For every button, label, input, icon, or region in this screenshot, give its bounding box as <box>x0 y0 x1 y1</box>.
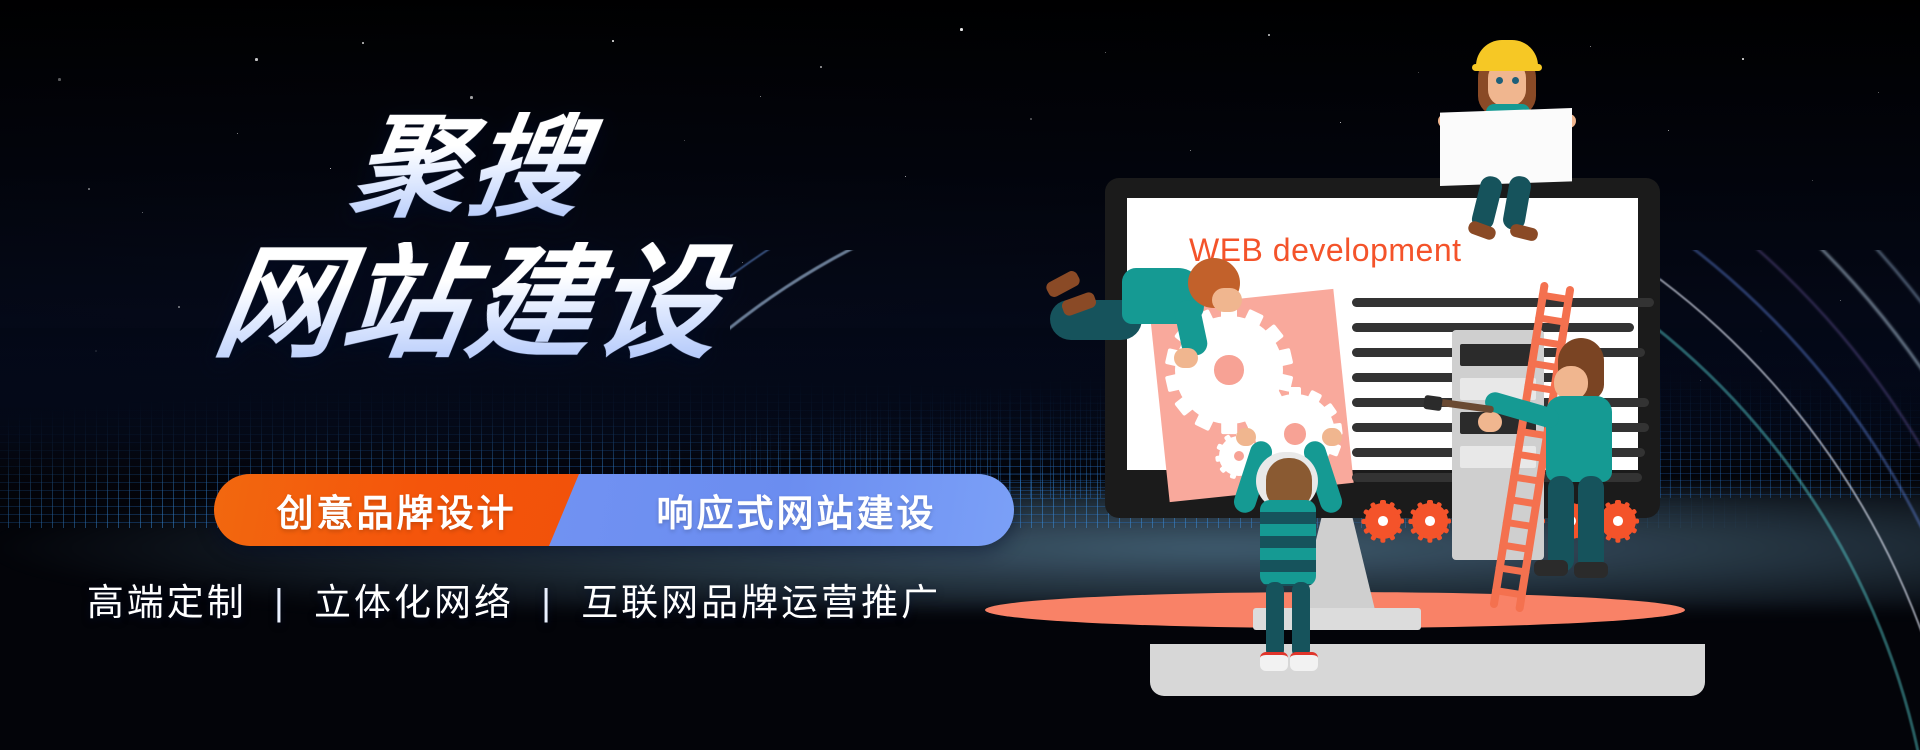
gear-tooth <box>1394 508 1403 516</box>
painter-face <box>1554 366 1588 400</box>
lifter-striped-shirt <box>1260 500 1316 586</box>
tagline-separator-1: | <box>274 582 287 624</box>
tagline-item-2: 立体化网络 <box>314 582 514 623</box>
gear-tooth <box>1410 526 1419 534</box>
service-badge[interactable]: 创意品牌设计 响应式网站建设 <box>214 474 1014 546</box>
engineer-eye-left <box>1496 77 1503 84</box>
painter-leg-right <box>1578 476 1604 572</box>
lifter-leg-left <box>1266 582 1284 658</box>
gear-tooth <box>1363 526 1372 534</box>
web-development-illustration: WEB development <box>1060 0 1920 750</box>
painter-torso <box>1546 396 1612 482</box>
gear-tooth <box>1441 508 1450 516</box>
service-badge-left-label: 创意品牌设计 <box>277 483 517 537</box>
gear-tooth <box>1370 532 1378 541</box>
gear-tooth <box>1623 501 1631 510</box>
tagline-item-3: 互联网品牌运营推广 <box>581 582 941 623</box>
gear-tooth <box>1388 501 1396 510</box>
character-engineer-with-blueprint <box>1432 30 1582 190</box>
engineer-hard-hat <box>1476 40 1538 66</box>
monitor-chin <box>1150 644 1705 696</box>
tagline: 高端定制 | 立体化网络 | 互联网品牌运营推广 <box>0 572 1028 626</box>
lifter-shoe-left <box>1260 652 1288 671</box>
paintbrush-tip <box>1423 395 1443 411</box>
painter-leg-left <box>1548 476 1574 572</box>
painter-shoe-right <box>1574 562 1608 578</box>
gear-tooth <box>1221 413 1237 434</box>
gear-tooth <box>1388 532 1396 541</box>
brand-title-line-1: 聚搜 <box>0 112 949 224</box>
hero-banner: 聚搜 网站建设 创意品牌设计 响应式网站建设 高端定制 | 立体化网络 | 互联… <box>0 0 1920 750</box>
brand-title-line-2: 网站建设 <box>0 242 950 366</box>
gear-tooth <box>1362 518 1369 523</box>
gear-tooth <box>1615 535 1620 542</box>
gear-tooth <box>1435 501 1443 510</box>
gear-hub <box>1613 516 1623 526</box>
service-badge-left[interactable]: 创意品牌设计 <box>214 474 579 546</box>
server-slot-1 <box>1460 344 1536 366</box>
gear-tooth <box>1363 508 1372 516</box>
service-badge-right[interactable]: 响应式网站建设 <box>549 474 1014 546</box>
gear-tooth <box>1380 535 1385 542</box>
gear-tooth <box>1427 500 1432 507</box>
lifter-hand-left <box>1236 428 1256 446</box>
gear-tooth <box>1370 501 1378 510</box>
gear-tooth <box>1409 518 1416 523</box>
gear-tooth <box>1380 500 1385 507</box>
tagline-item-1: 高端定制 <box>87 582 247 623</box>
gear-tooth <box>1417 501 1425 510</box>
gear-tooth <box>1629 508 1638 516</box>
painter-shoe-left <box>1534 560 1568 576</box>
orange-gear <box>1365 503 1401 539</box>
gear-tooth <box>1629 526 1638 534</box>
gear-tooth <box>1410 508 1419 516</box>
gear-tooth <box>1427 535 1432 542</box>
engineer-hard-hat-brim <box>1472 64 1542 71</box>
gear-tooth <box>1441 526 1450 534</box>
gear-hub <box>1425 516 1435 526</box>
gear-tooth <box>1289 387 1301 403</box>
gear-tooth <box>1605 532 1613 541</box>
gear-hub <box>1284 423 1306 445</box>
gear-tooth <box>1632 518 1639 523</box>
leaner-face <box>1212 288 1242 312</box>
lifter-leg-right <box>1292 582 1310 658</box>
tagline-separator-2: | <box>541 582 554 624</box>
gear-tooth <box>1215 455 1224 462</box>
lifter-shoe-right <box>1290 652 1318 671</box>
orange-gear <box>1600 503 1636 539</box>
brand-title: 聚搜 网站建设 <box>0 112 940 366</box>
gear-tooth <box>1435 532 1443 541</box>
blueprint-sheet <box>1440 108 1572 186</box>
painter-hand <box>1478 412 1502 432</box>
leaner-hand <box>1174 348 1198 368</box>
gear-tooth <box>1394 526 1403 534</box>
gear-tooth <box>1605 501 1613 510</box>
gear-hub <box>1214 355 1243 384</box>
engineer-eye-right <box>1512 77 1519 84</box>
gear-tooth <box>1165 372 1189 392</box>
orange-gear <box>1412 503 1448 539</box>
service-badge-right-label: 响应式网站建设 <box>657 483 937 537</box>
gear-hub <box>1234 451 1245 462</box>
screen-text-line <box>1352 298 1654 307</box>
gear-tooth <box>1444 518 1451 523</box>
gear-hub <box>1378 516 1388 526</box>
lifter-hand-right <box>1322 428 1342 446</box>
gear-tooth <box>1615 500 1620 507</box>
gear-tooth <box>1397 518 1404 523</box>
gear-tooth <box>1417 532 1425 541</box>
gear-tooth <box>1623 532 1631 541</box>
